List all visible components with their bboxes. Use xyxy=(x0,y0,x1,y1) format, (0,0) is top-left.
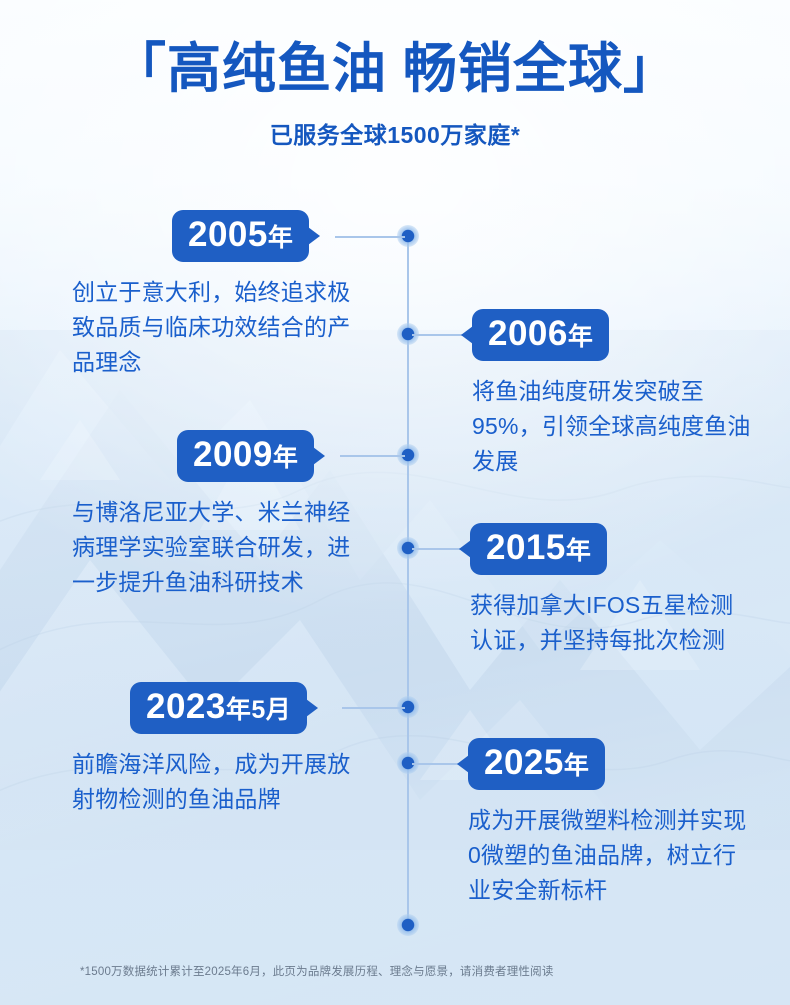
year-badge-2015[interactable]: 2015年 xyxy=(470,523,607,575)
timeline-entry-2023: 2023年5月 前瞻海洋风险，成为开展放射物检测的鱼油品牌 xyxy=(72,682,352,817)
timeline-entry-2025: 2025年 成为开展微塑料检测并实现0微塑的鱼油品牌，树立行业安全新标杆 xyxy=(468,738,753,908)
entry-description: 与博洛尼亚大学、米兰神经病理学实验室联合研发，进一步提升鱼油科研技术 xyxy=(72,495,352,600)
year-badge-2009[interactable]: 2009年 xyxy=(177,430,314,482)
year-suffix: 年 xyxy=(273,444,299,472)
year-suffix: 年 xyxy=(268,224,294,252)
year-badge-2025[interactable]: 2025年 xyxy=(468,738,605,790)
timeline-entry-2005: 2005年 创立于意大利，始终追求极致品质与临床功效结合的产品理念 xyxy=(72,210,352,380)
year-label: 2009 xyxy=(193,435,273,474)
entry-description: 前瞻海洋风险，成为开展放射物检测的鱼油品牌 xyxy=(72,747,352,817)
year-badge-2023[interactable]: 2023年5月 xyxy=(130,682,307,734)
year-suffix: 年5月 xyxy=(226,696,291,724)
year-badge-2005[interactable]: 2005年 xyxy=(172,210,309,262)
timeline-node-end xyxy=(397,914,419,936)
promo-page: 「高纯鱼油 畅销全球」 已服务全球1500万家庭* 2005年 创立于意大利，始… xyxy=(0,0,790,1005)
timeline-entry-2006: 2006年 将鱼油纯度研发突破至95%，引领全球高纯度鱼油发展 xyxy=(472,309,752,479)
timeline-entry-2015: 2015年 获得加拿大IFOS五星检测认证，并坚持每批次检测 xyxy=(470,523,750,658)
entry-description: 获得加拿大IFOS五星检测认证，并坚持每批次检测 xyxy=(470,588,750,658)
year-label: 2025 xyxy=(484,743,564,782)
entry-description: 成为开展微塑料检测并实现0微塑的鱼油品牌，树立行业安全新标杆 xyxy=(468,803,753,908)
year-suffix: 年 xyxy=(568,323,594,351)
year-label: 2006 xyxy=(488,314,568,353)
year-suffix: 年 xyxy=(566,537,592,565)
year-label: 2023 xyxy=(146,687,226,726)
year-badge-2006[interactable]: 2006年 xyxy=(472,309,609,361)
year-suffix: 年 xyxy=(564,752,590,780)
year-label: 2015 xyxy=(486,528,566,567)
entry-description: 将鱼油纯度研发突破至95%，引领全球高纯度鱼油发展 xyxy=(472,374,752,479)
footnote-text: *1500万数据统计累计至2025年6月，此页为品牌发展历程、理念与愿景，请消费… xyxy=(80,963,554,979)
timeline-entry-2009: 2009年 与博洛尼亚大学、米兰神经病理学实验室联合研发，进一步提升鱼油科研技术 xyxy=(72,430,352,600)
year-label: 2005 xyxy=(188,215,268,254)
entry-description: 创立于意大利，始终追求极致品质与临床功效结合的产品理念 xyxy=(72,275,352,380)
